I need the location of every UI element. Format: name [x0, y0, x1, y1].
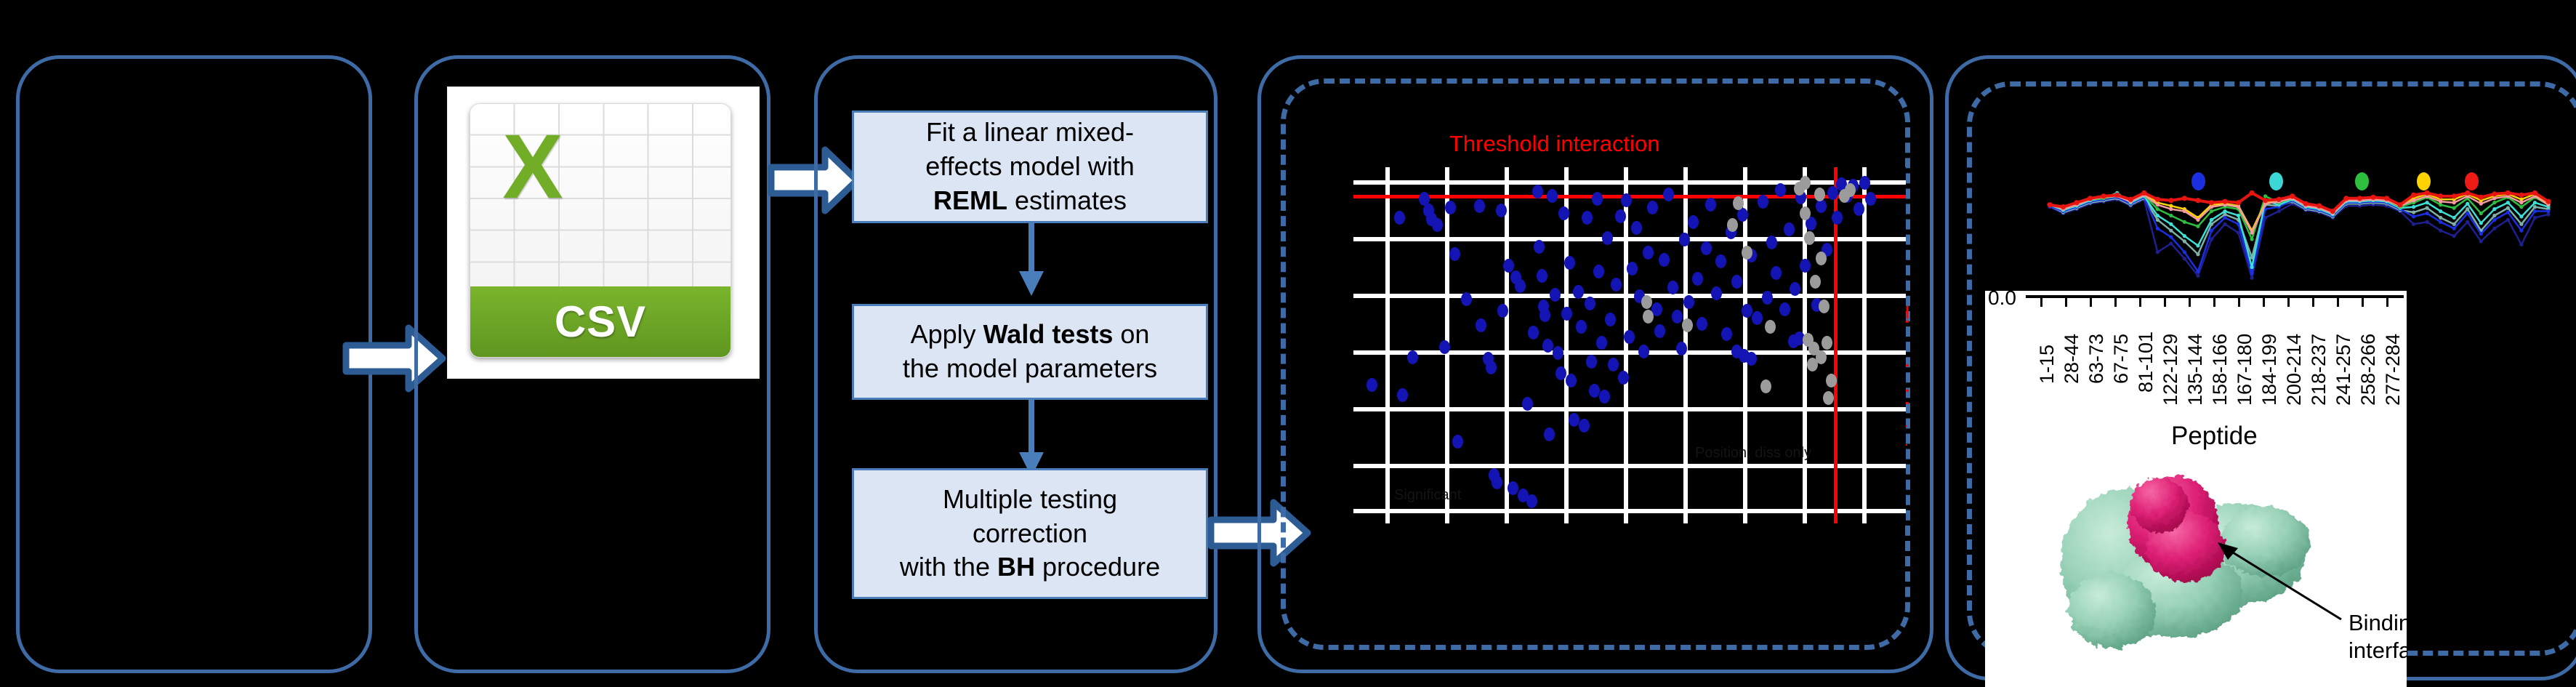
x-tick-label: 258-266 [2357, 334, 2380, 406]
chart-data-point [2533, 205, 2537, 209]
chart-data-point [2533, 209, 2537, 213]
x-tick-mark [2065, 297, 2067, 307]
x-tick-label: 122-129 [2160, 334, 2182, 406]
chart-data-point [2101, 193, 2106, 198]
x-axis-title: Peptide [2171, 422, 2258, 451]
chart-data-point [2183, 239, 2186, 243]
chart-data-point [2196, 252, 2199, 256]
chart-data-point [2263, 194, 2267, 198]
x-tick-label: 28-44 [2061, 334, 2083, 384]
x-tick-mark [2362, 297, 2364, 307]
chart-data-point [2223, 209, 2226, 213]
x-tick-label: 167-180 [2234, 334, 2256, 406]
step-wald-text: Apply Wald tests on the model parameters [903, 318, 1157, 386]
chart-data-point [2384, 196, 2389, 201]
chart-data-point [2196, 270, 2199, 273]
scatter-plot-area[interactable]: Position: diss only Significant [1353, 167, 1906, 523]
x-tick-mark [2139, 297, 2141, 307]
chart-data-point [2196, 218, 2199, 222]
legend-dot-green[interactable] [2355, 172, 2369, 190]
chart-data-point [2492, 196, 2496, 200]
step-wald-box[interactable]: Apply Wald tests on the model parameters [852, 304, 1208, 400]
chart-data-point [2169, 235, 2173, 238]
chart-data-point [2479, 239, 2483, 243]
grid-line-v [1862, 167, 1867, 523]
chart-data-point [2439, 220, 2442, 224]
volcano-scatter: Threshold interaction Threshold state Po… [1353, 167, 1913, 531]
chart-data-point [2263, 198, 2268, 203]
faint-label-significant: Significant [1394, 487, 1461, 504]
chart-data-point [2343, 196, 2348, 201]
x-tick-mark [2263, 297, 2265, 307]
y-axis-tick-0: 0.0 [1988, 291, 2016, 310]
chart-data-point [2357, 196, 2362, 201]
chart-data-point [2506, 206, 2510, 210]
chart-data-point [2222, 199, 2227, 204]
x-tick-label: 241-257 [2333, 334, 2355, 406]
x-tick-mark [2164, 297, 2166, 307]
chart-data-point [2492, 227, 2496, 230]
grid-line-h [1353, 294, 1906, 298]
chart-data-point [2156, 203, 2160, 206]
threshold-interaction-label: Threshold interaction [1449, 131, 1660, 157]
chart-data-point [2479, 195, 2484, 200]
chart-data-point [2303, 201, 2309, 206]
chart-data-point [2439, 229, 2442, 233]
chart-data-point [2426, 206, 2429, 210]
chart-data-point [2236, 200, 2241, 205]
chart-data-point [2532, 190, 2537, 196]
chart-data-point [2533, 216, 2537, 220]
grid-line-v [1385, 167, 1390, 523]
chart-data-point [2169, 222, 2173, 226]
csv-file-card: X CSV [448, 87, 759, 378]
x-tick-label: 1-15 [2036, 345, 2058, 384]
x-tick-label: 63-73 [2085, 334, 2108, 384]
chart-data-point [2210, 209, 2213, 213]
faint-label-position: Position: diss only [1695, 445, 1811, 462]
chart-data-point [2317, 204, 2322, 209]
chart-data-point [2466, 207, 2469, 211]
binding-interface-label: Binding interface [2348, 609, 2407, 664]
x-tick-mark [2213, 297, 2215, 307]
chart-data-point [2195, 198, 2200, 203]
chart-data-point [2411, 193, 2416, 198]
chart-data-point [2506, 218, 2510, 222]
legend-dot-cyan[interactable] [2269, 172, 2283, 190]
x-tick-mark [2337, 297, 2339, 307]
x-tick-label: 135-144 [2184, 334, 2207, 406]
x-tick-label: 184-199 [2258, 334, 2281, 406]
chart-data-point [2169, 241, 2173, 245]
chart-data-point [2047, 202, 2052, 207]
chart-data-point [2492, 191, 2497, 196]
chart-data-point [2426, 220, 2429, 224]
chart-data-point [2290, 193, 2295, 198]
chart-data-point [2426, 212, 2429, 215]
chart-data-point [2439, 200, 2442, 204]
chart-data-point [2519, 222, 2523, 226]
step-reml-box[interactable]: Fit a linear mixed- effects model with R… [852, 111, 1208, 223]
chart-data-point [2506, 201, 2510, 204]
excel-x-icon: X [480, 106, 584, 228]
chart-data-point [2452, 227, 2456, 230]
chart-data-point [2061, 204, 2066, 209]
binding-interface-leader [2196, 531, 2348, 625]
chart-data-point [2237, 205, 2240, 209]
chart-data-point [2452, 193, 2457, 198]
chart-data-point [2074, 200, 2079, 205]
grid-line-h [1353, 407, 1906, 411]
chart-data-point [2505, 190, 2511, 196]
peptide-line-chart[interactable] [2028, 182, 2566, 298]
csv-format-label: CSV [555, 297, 646, 347]
x-tick-label: 158-166 [2209, 334, 2231, 406]
chart-data-point [2545, 199, 2551, 204]
chart-data-point [2169, 207, 2173, 211]
chart-data-point [2412, 214, 2415, 218]
x-tick-mark [2090, 297, 2092, 307]
x-tick-mark [2189, 297, 2191, 307]
chart-data-point [2223, 222, 2226, 226]
chart-data-point [2519, 205, 2523, 209]
chart-data-point [2465, 190, 2470, 196]
x-tick-mark [2386, 297, 2388, 307]
chart-data-point [2492, 201, 2496, 204]
legend-dot-blue[interactable] [2191, 172, 2205, 190]
x-tick-label: 67-75 [2110, 334, 2133, 384]
chart-data-point [2183, 234, 2186, 238]
chart-data-point [2412, 222, 2415, 226]
chart-data-point [2466, 220, 2469, 224]
grid-line-h [1353, 509, 1906, 513]
csv-label-band: CSV [470, 286, 730, 357]
chart-data-point [2169, 229, 2173, 233]
chart-data-point [2439, 216, 2442, 220]
chart-data-point [2519, 243, 2523, 246]
chart-data-point [2492, 207, 2496, 211]
chart-data-point [2452, 216, 2456, 220]
x-tick-label: 81-101 [2135, 332, 2157, 393]
x-tick-label: 218-237 [2308, 334, 2330, 406]
chart-data-point [2277, 197, 2282, 202]
chart-data-point [2196, 274, 2199, 278]
grid-line-v [1564, 167, 1569, 523]
chart-data-point [2182, 196, 2187, 201]
workflow-figure: X CSV Fit a linear mixed- effects model … [0, 0, 2576, 687]
chart-data-point [2210, 229, 2213, 233]
chart-data-point [2156, 250, 2160, 254]
chart-data-point [2533, 201, 2537, 204]
binding-interface-line1: Binding [2348, 609, 2407, 637]
chart-data-point [2250, 231, 2254, 235]
step-bh-box[interactable]: Multiple testing correction with the BH … [852, 468, 1208, 599]
grid-line-h [1353, 464, 1906, 468]
grid-line-h [1353, 237, 1906, 241]
x-tick-label: 277-284 [2382, 334, 2404, 406]
chart-data-point [2183, 250, 2186, 254]
chart-data-point [2452, 206, 2456, 210]
chart-data-point [2466, 202, 2469, 206]
chart-data-point [2183, 220, 2186, 224]
chart-data-point [2546, 212, 2550, 216]
chart-data-point [2519, 198, 2523, 201]
peptide-line-chart-svg [2028, 182, 2566, 298]
chart-data-point [2492, 214, 2496, 217]
chart-data-point [2168, 198, 2173, 203]
chart-data-point [2425, 190, 2430, 196]
chart-data-point [2439, 203, 2442, 206]
chart-data-point [2141, 190, 2146, 196]
chart-data-point [2397, 202, 2402, 207]
binding-interface-line2: interface [2348, 637, 2407, 664]
x-tick-mark [2114, 297, 2117, 307]
chart-data-point [2183, 257, 2186, 260]
legend-dot-yellow[interactable] [2417, 172, 2431, 190]
grid-line-h [1353, 180, 1906, 185]
chart-data-point [2169, 204, 2173, 208]
chart-data-point [2412, 205, 2415, 209]
x-tick-mark [2040, 297, 2042, 307]
chart-data-point [2479, 232, 2483, 236]
step-bh-text: Multiple testing correction with the BH … [900, 483, 1160, 584]
chart-data-point [2519, 214, 2523, 218]
chart-data-point [2426, 201, 2429, 204]
chart-data-point [2210, 205, 2213, 209]
chart-data-point [2546, 209, 2550, 213]
chart-data-point [2250, 276, 2254, 280]
chart-data-point [2277, 209, 2281, 213]
input-panel [16, 55, 372, 673]
chart-series-line [2050, 197, 2548, 273]
chart-data-point [2088, 196, 2093, 201]
legend-dot-red[interactable] [2465, 172, 2479, 190]
x-tick-mark [2238, 297, 2240, 307]
chart-data-point [2438, 193, 2443, 198]
chart-data-point [2210, 218, 2213, 222]
chart-data-point [2466, 212, 2469, 215]
chart-data-point [2519, 193, 2524, 198]
chart-data-point [2209, 200, 2214, 205]
x-tick-mark [2312, 297, 2314, 307]
chart-data-point [2155, 197, 2160, 202]
chart-data-point [2183, 209, 2186, 213]
csv-file-icon: X CSV [470, 103, 731, 358]
chart-data-point [2156, 218, 2160, 222]
chart-data-point [2223, 216, 2226, 220]
chart-data-point [2156, 227, 2160, 230]
chart-data-point [2114, 193, 2120, 198]
chart-data-point [2412, 198, 2415, 202]
step-reml-text: Fit a linear mixed- effects model with R… [925, 116, 1134, 217]
chart-data-point [2210, 237, 2213, 241]
chart-data-point [2452, 222, 2456, 226]
chart-data-point [2479, 221, 2483, 225]
chart-data-point [2128, 197, 2133, 202]
arrow-reml-to-wald [1015, 223, 1048, 299]
chart-data-point [2452, 234, 2456, 238]
chart-data-point [2519, 201, 2523, 204]
chart-data-point [2506, 210, 2510, 214]
chart-data-point [2479, 212, 2483, 215]
chart-data-point [2156, 214, 2160, 217]
chart-data-point [2452, 201, 2456, 204]
chart-data-point [2250, 265, 2254, 269]
chart-data-point [2196, 225, 2199, 228]
chart-data-point [2169, 214, 2173, 217]
chart-data-point [2250, 237, 2254, 241]
grid-line-v [1505, 167, 1509, 523]
chart-data-point [2156, 207, 2160, 211]
x-tick-mark [2287, 297, 2290, 307]
chart-data-point [2370, 195, 2375, 200]
chart-data-point [2519, 229, 2523, 233]
chart-data-point [2492, 218, 2496, 222]
chart-data-point [2196, 244, 2199, 247]
chart-data-point [2412, 210, 2415, 214]
chart-data-point [2330, 209, 2335, 214]
x-tick-label: 200-214 [2283, 334, 2306, 406]
chart-data-point [2479, 202, 2483, 206]
structure-card: 0.0 1-15 28-44 63-73 67-75 81-101 122-12… [1985, 291, 2407, 687]
chart-data-point [2250, 272, 2254, 276]
chart-data-point [2439, 209, 2442, 213]
chart-data-point [2250, 190, 2255, 196]
